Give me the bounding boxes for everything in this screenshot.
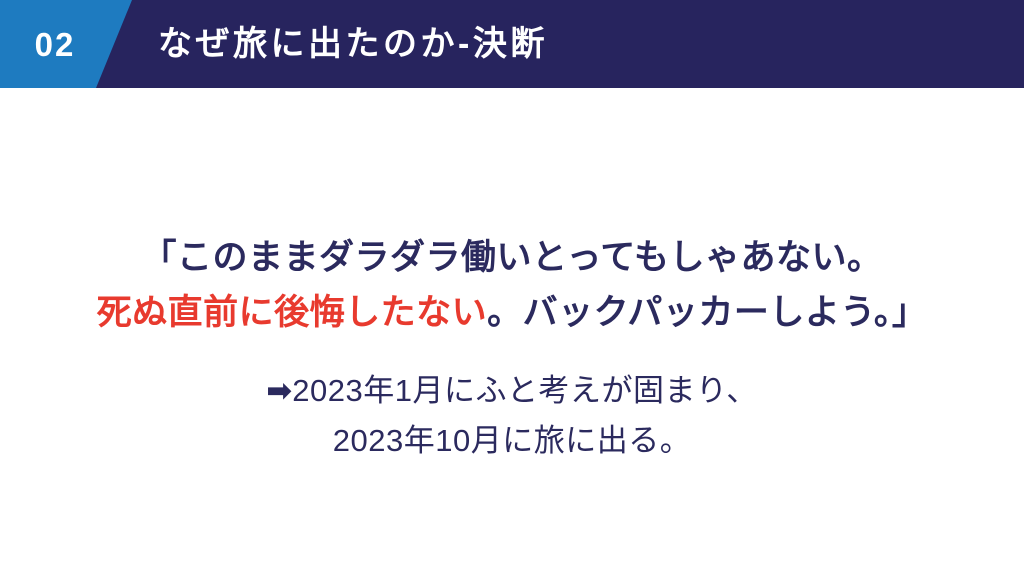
note-block: ➡2023年1月にふと考えが固まり、 2023年10月に旅に出る。 [0, 366, 1024, 466]
note-line-2: 2023年10月に旅に出る。 [0, 416, 1024, 466]
quote-highlight-text: 死ぬ直前に後悔したない [97, 293, 488, 332]
quote-line-2-rest: 。バックパッカーしよう。」 [487, 293, 927, 332]
note-line-1: ➡2023年1月にふと考えが固まり、 [0, 366, 1024, 416]
quote-line-1: 「このままダラダラ働いとってもしゃあない。 [0, 230, 1024, 285]
section-number: 02 [0, 0, 110, 88]
slide-header-band: 02 なぜ旅に出たのか-決断 [0, 0, 1024, 88]
slide-root: 02 なぜ旅に出たのか-決断 「このままダラダラ働いとってもしゃあない。 死ぬ直… [0, 0, 1024, 576]
quote-block: 「このままダラダラ働いとってもしゃあない。 死ぬ直前に後悔したない。バックパッカ… [0, 230, 1024, 340]
note-line-1-text: 2023年1月にふと考えが固まり、 [292, 373, 757, 408]
slide-content: 「このままダラダラ働いとってもしゃあない。 死ぬ直前に後悔したない。バックパッカ… [0, 88, 1024, 576]
quote-line-2: 死ぬ直前に後悔したない。バックパッカーしよう。」 [0, 285, 1024, 340]
right-arrow-icon: ➡ [266, 373, 292, 408]
page-title: なぜ旅に出たのか-決断 [158, 0, 548, 88]
